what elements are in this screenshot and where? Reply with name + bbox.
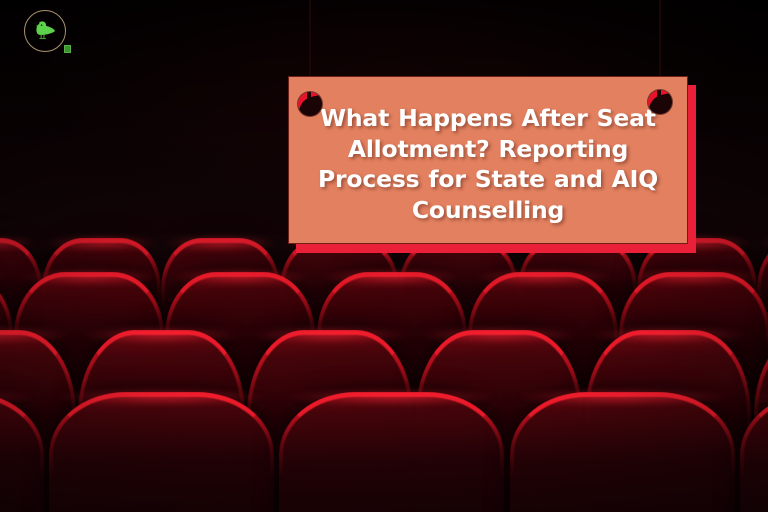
site-logo[interactable]	[24, 10, 66, 52]
title-card-body: What Happens After Seat Allotment? Repor…	[288, 76, 688, 244]
ornament-ball-icon	[648, 90, 672, 114]
bird-icon	[31, 17, 59, 45]
cinema-seat	[42, 392, 282, 512]
cinema-seat	[272, 392, 512, 512]
cinema-seat	[733, 392, 768, 512]
seat-row-front	[0, 392, 768, 512]
cinema-seat	[502, 392, 742, 512]
hero-banner-image: What Happens After Seat Allotment? Repor…	[0, 0, 768, 512]
title-card: What Happens After Seat Allotment? Repor…	[288, 76, 688, 244]
logo-badge	[64, 45, 71, 53]
page-title: What Happens After Seat Allotment? Repor…	[311, 103, 665, 225]
ornament-ball-icon	[298, 92, 322, 116]
